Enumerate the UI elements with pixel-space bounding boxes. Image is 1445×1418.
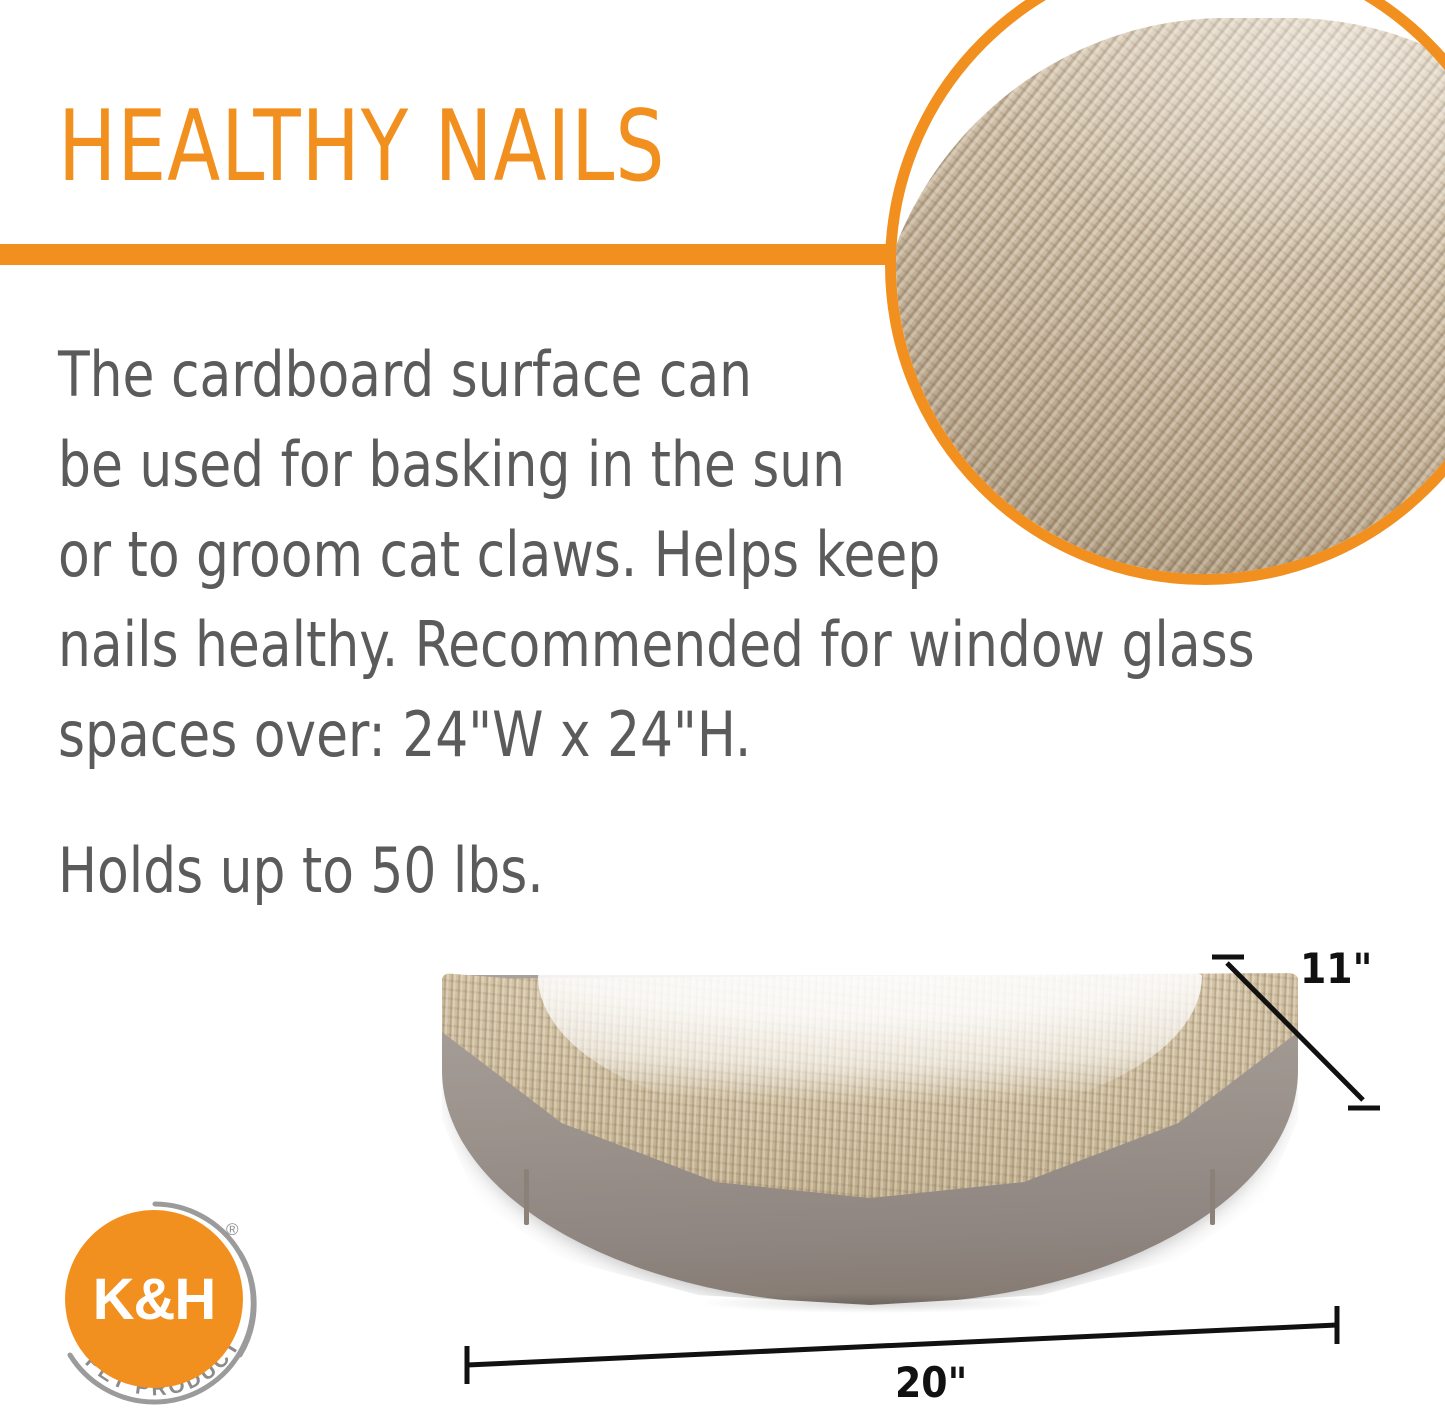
body-line: The cardboard surface can [58, 330, 1332, 420]
logo-wordmark: K&H [65, 1210, 243, 1388]
depth-dimension-label: 11" [1300, 944, 1372, 993]
infographic-canvas: HEALTHY NAILS The cardboard surface can … [0, 0, 1445, 1418]
page-title: HEALTHY NAILS [58, 97, 665, 197]
body-copy: The cardboard surface can be used for ba… [58, 330, 1332, 780]
product-photo [420, 955, 1320, 1345]
registered-trademark-icon: ® [226, 1220, 239, 1240]
capacity-text: Holds up to 50 lbs. [58, 832, 544, 910]
body-line: spaces over: 24"W x 24"H. [58, 690, 1332, 780]
product-notch-left [524, 1169, 529, 1225]
product-shadow [630, 1289, 1120, 1317]
accent-rule [0, 244, 897, 265]
brand-logo: PET PRODUCTS K&H ® [48, 1196, 263, 1411]
width-dimension-label: 20" [895, 1358, 967, 1407]
product-notch-right [1210, 1169, 1215, 1225]
body-line: or to groom cat claws. Helps keep [58, 510, 1332, 600]
body-line: nails healthy. Recommended for window gl… [58, 600, 1332, 690]
body-line: be used for basking in the sun [58, 420, 1332, 510]
